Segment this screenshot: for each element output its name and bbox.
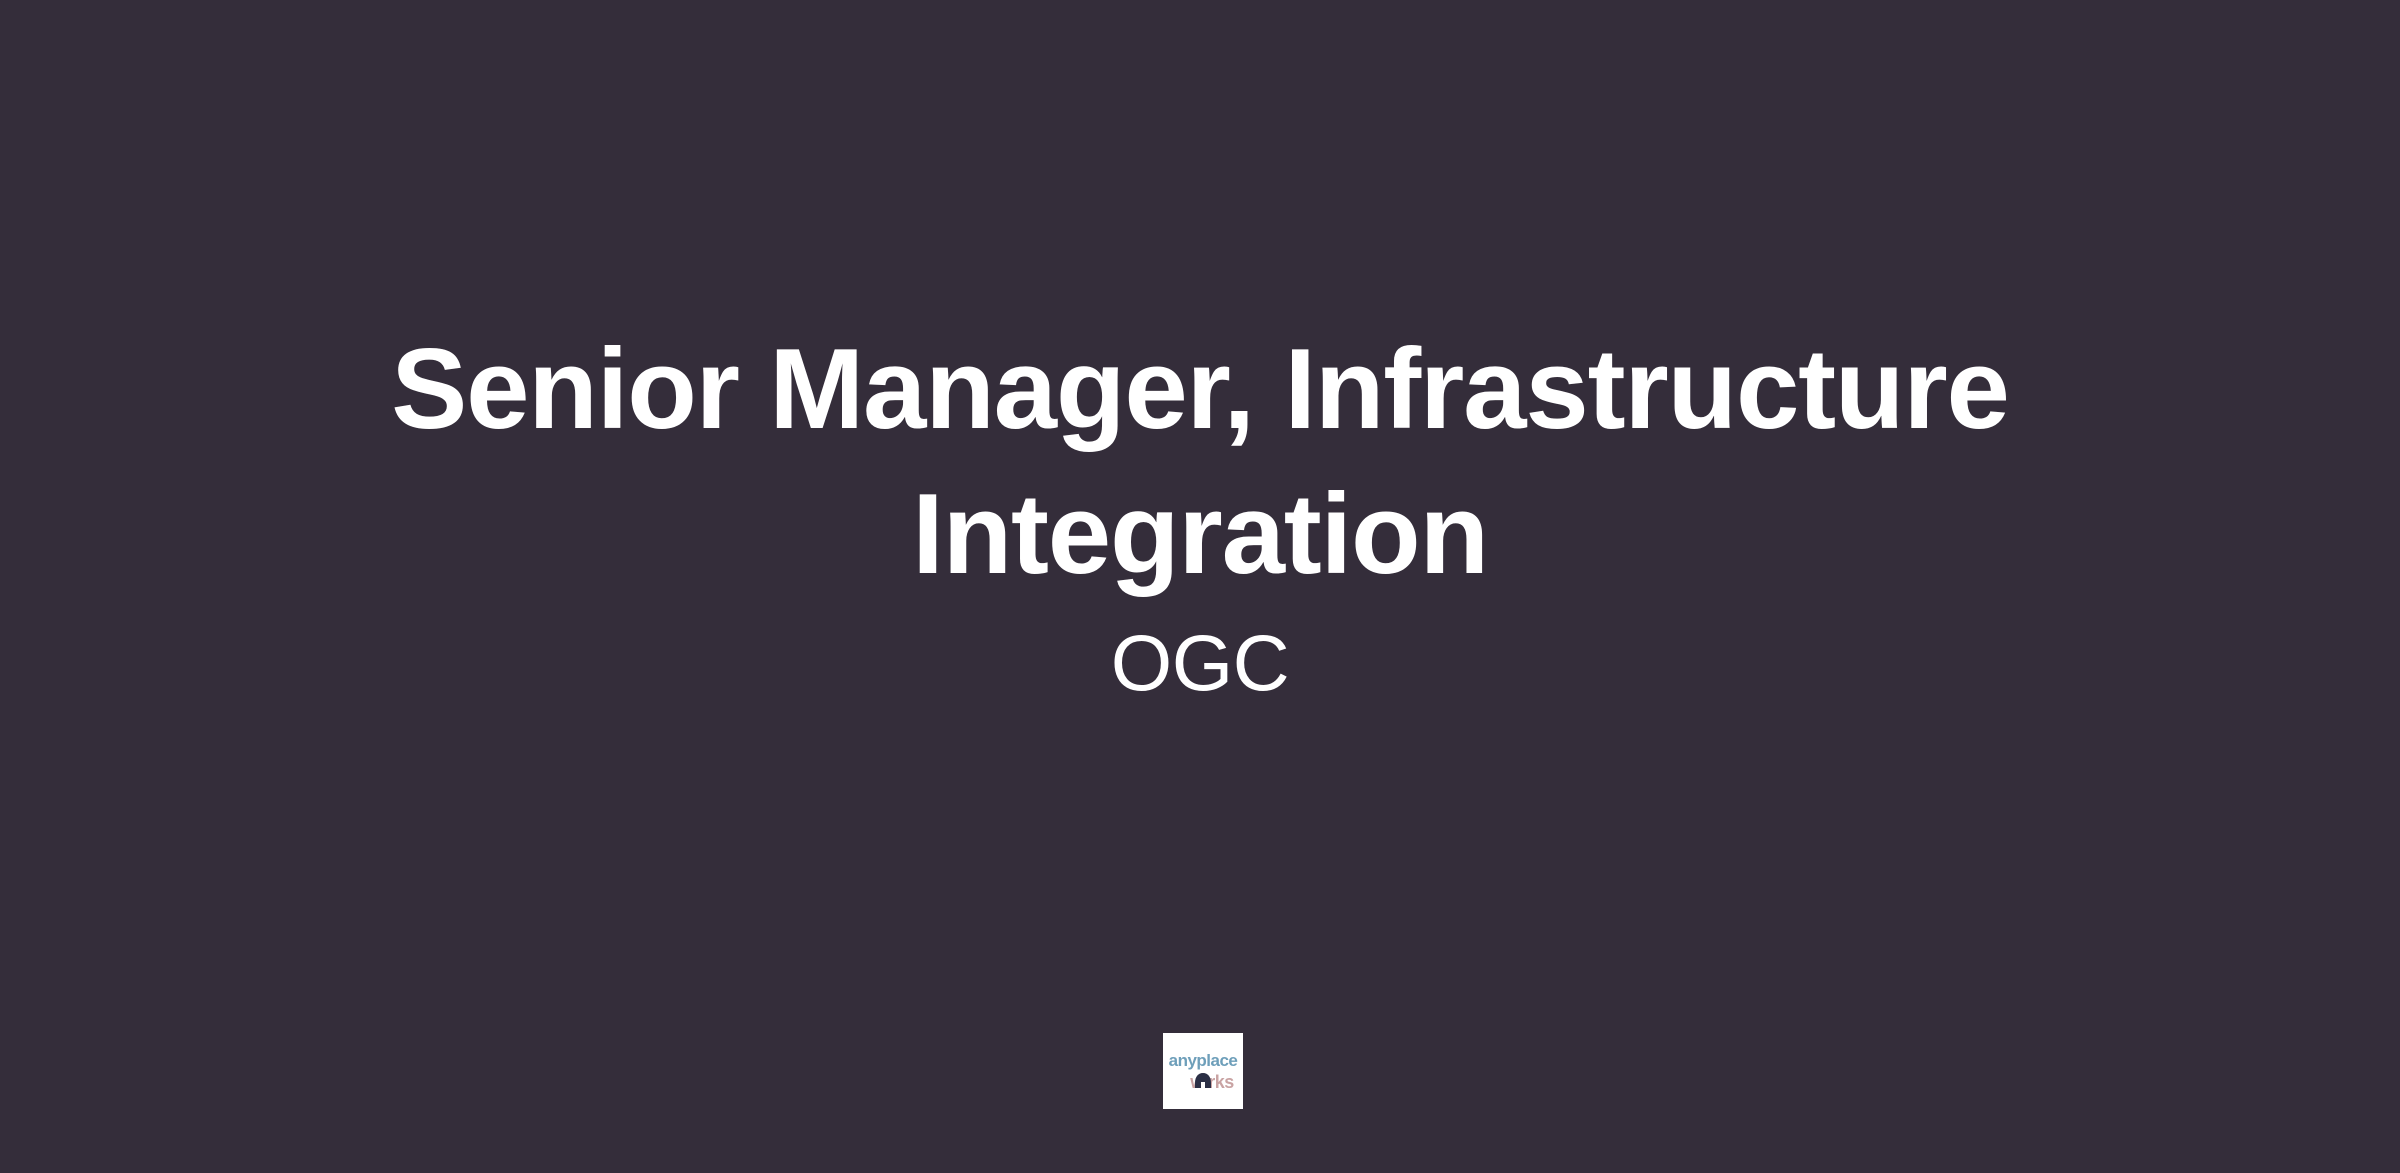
logo-word-works-tail: rks [1208,1072,1234,1092]
brand-logo: anyplace w rks [1163,1033,1243,1109]
page-subtitle: OGC [0,608,2400,709]
logo-word-anyplace: anyplace [1169,1051,1238,1070]
anyplace-works-logo-icon: anyplace w rks [1167,1042,1239,1100]
presentation-slide: Senior Manager, Infrastructure Integrati… [0,0,2400,1173]
title-block: Senior Manager, Infrastructure Integrati… [0,318,2400,708]
page-title: Senior Manager, Infrastructure Integrati… [0,318,2400,608]
